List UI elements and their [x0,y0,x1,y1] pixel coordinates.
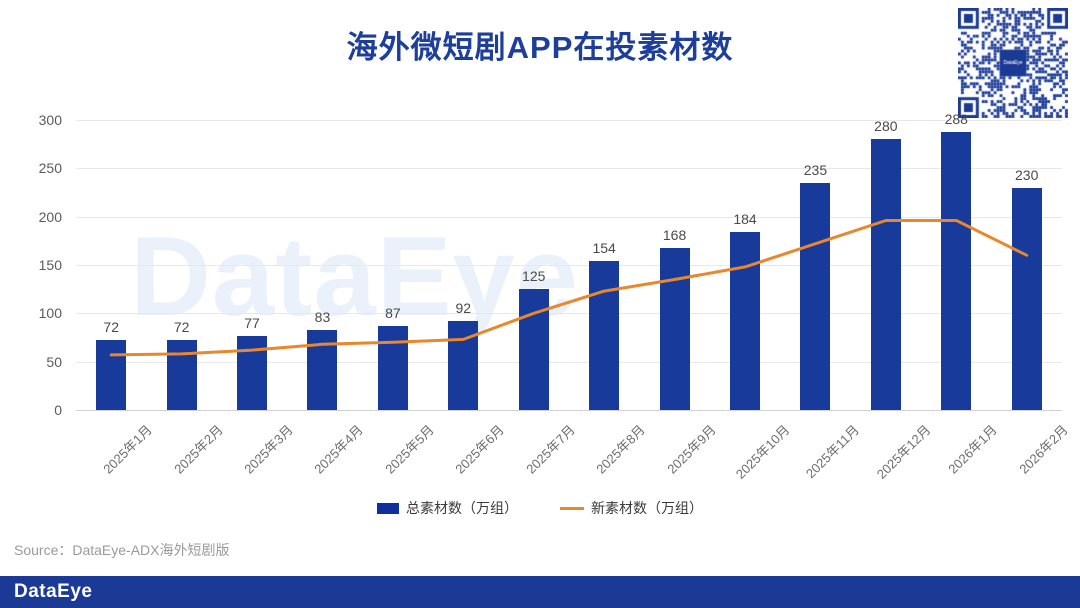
legend-line-swatch-icon [560,507,584,510]
chart-legend: 总素材数（万组）新素材数（万组） [0,498,1080,518]
x-axis-slot: 2026年2月 [991,412,1061,502]
x-axis-slot: 2026年1月 [921,412,991,502]
legend-bar-swatch-icon [377,503,399,514]
qr-code[interactable] [958,8,1068,118]
y-axis-tick: 250 [39,160,62,176]
x-axis-slot: 2025年8月 [569,412,639,502]
line-path [111,221,1027,355]
x-axis-slot: 2025年10月 [710,412,780,502]
x-axis-slot: 2025年1月 [76,412,146,502]
source-note: Source：DataEye-ADX海外短剧版 [14,540,230,560]
chart-area: DataEye 050100150200250300 7272778387921… [0,120,1080,430]
y-axis: 050100150200250300 [0,120,72,410]
legend-label: 总素材数（万组） [406,498,518,518]
page-title: 海外微短剧APP在投素材数 [0,22,1080,67]
y-axis-tick: 200 [39,209,62,225]
x-axis-label: 2026年2月 [1014,420,1071,477]
x-axis-slot: 2025年2月 [146,412,216,502]
y-axis-tick: 300 [39,112,62,128]
footer-logo: DataEye [14,581,93,603]
gridline [76,410,1062,411]
legend-item[interactable]: 新素材数（万组） [560,498,703,518]
legend-item[interactable]: 总素材数（万组） [377,498,518,518]
x-axis-slot: 2025年7月 [499,412,569,502]
y-axis-tick: 0 [54,402,62,418]
qr-code-icon [958,8,1068,118]
plot-area: 727277838792125154168184235280288230 [76,120,1062,410]
footer-bar: DataEye [0,576,1080,608]
line-series [76,120,1062,410]
x-axis-slot: 2025年9月 [639,412,709,502]
x-axis: 2025年1月2025年2月2025年3月2025年4月2025年5月2025年… [76,412,1062,502]
x-axis-slot: 2025年6月 [428,412,498,502]
x-axis-slot: 2025年5月 [358,412,428,502]
y-axis-tick: 100 [39,305,62,321]
x-axis-slot: 2025年11月 [780,412,850,502]
y-axis-tick: 150 [39,257,62,273]
x-axis-slot: 2025年12月 [851,412,921,502]
y-axis-tick: 50 [46,354,62,370]
x-axis-slot: 2025年4月 [287,412,357,502]
x-axis-slot: 2025年3月 [217,412,287,502]
legend-label: 新素材数（万组） [591,498,703,518]
